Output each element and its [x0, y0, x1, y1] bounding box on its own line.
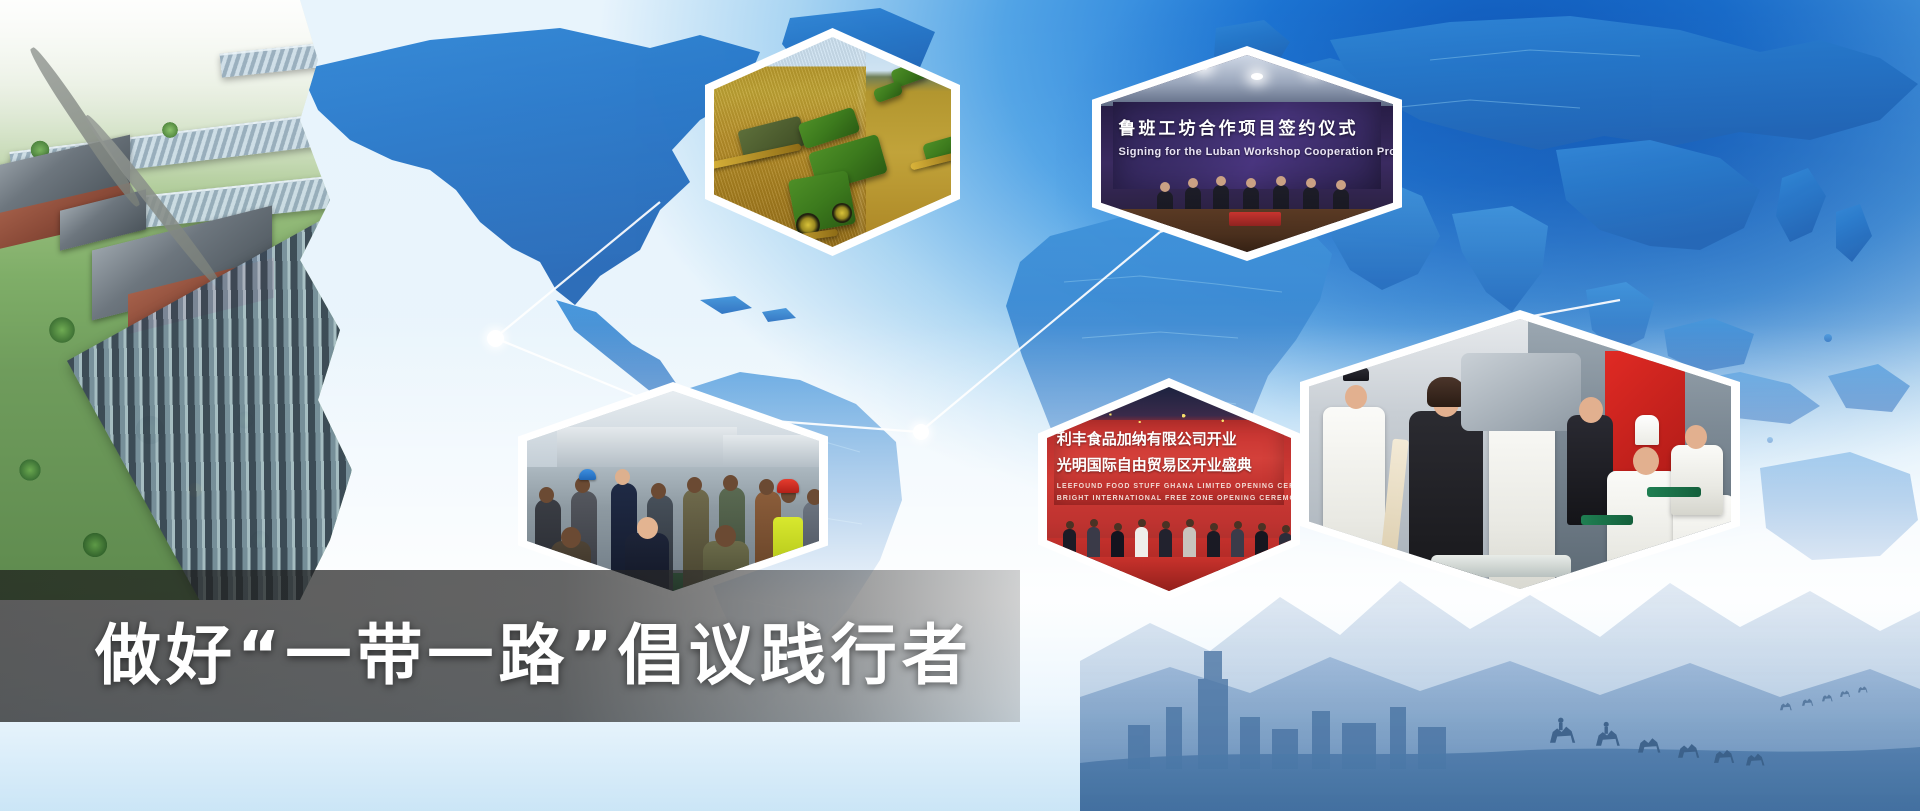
safety-vest: [773, 517, 803, 561]
counter-top: [1431, 555, 1571, 577]
ghana-banner-cn-line1: 利丰食品加纳有限公司开业: [1057, 428, 1286, 449]
collar-trim: [1647, 487, 1701, 497]
collar-trim: [1581, 515, 1633, 525]
hero-banner: 鲁班工坊合作项目签约仪式 Signing for the Luban Works…: [0, 0, 1920, 811]
toque-icon: [1635, 415, 1659, 445]
luban-banner-en: Signing for the Luban Workshop Cooperati…: [1119, 146, 1388, 158]
luban-banner-cn: 鲁班工坊合作项目签约仪式: [1119, 114, 1382, 139]
chef-cap-icon: [1343, 367, 1369, 381]
red-hard-hat-icon: [777, 479, 799, 493]
ghana-banner-en-line2: BRIGHT INTERNATIONAL FREE ZONE OPENING C…: [1057, 495, 1291, 502]
page-title: 做好“一带一路”倡议践行者: [95, 602, 973, 698]
ghana-banner-en-line1: LEEFOUND FOOD STUFF GHANA LIMITED OPENIN…: [1057, 483, 1291, 490]
ghana-banner-cn-line2: 光明国际自由贸易区开业盛典: [1057, 454, 1286, 475]
connection-node: [487, 330, 504, 347]
blue-hard-hat-icon: [579, 469, 596, 480]
kitchen-hood: [1461, 353, 1581, 431]
hair: [1427, 377, 1465, 407]
connection-node: [913, 424, 929, 440]
